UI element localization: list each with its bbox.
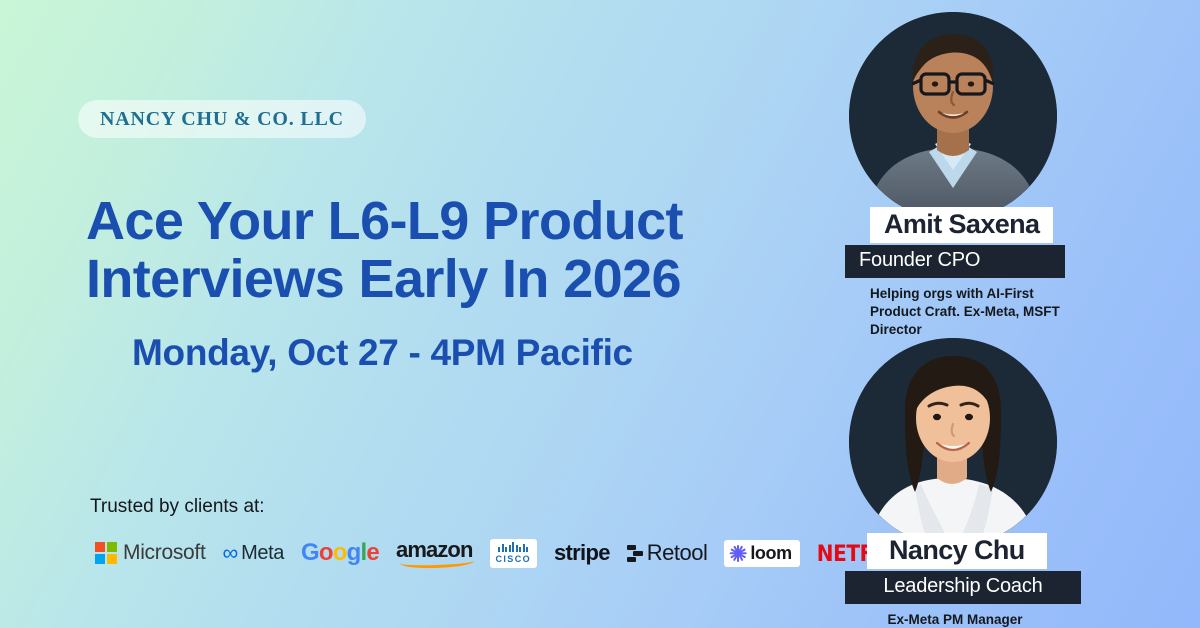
speaker-name-nancy: Nancy Chu: [889, 535, 1025, 565]
speaker-role-nancy: Leadership Coach: [883, 575, 1042, 597]
speaker-name-plate-amit: Amit Saxena: [870, 207, 1053, 243]
avatar-nancy-image: [849, 338, 1057, 546]
logo-retool: Retool: [627, 536, 708, 570]
logo-meta: ∞ Meta: [222, 536, 284, 570]
speaker-role-plate-amit: Founder CPO: [845, 245, 1065, 278]
speaker-name-plate-nancy: Nancy Chu: [867, 533, 1047, 569]
promo-banner: NANCY CHU & CO. LLC Ace Your L6-L9 Produ…: [0, 0, 1200, 628]
speaker-role-plate-nancy: Leadership Coach: [845, 571, 1081, 604]
cisco-logo-icon: [498, 542, 528, 552]
speaker-role-amit: Founder CPO: [859, 249, 980, 271]
google-wordmark: Google: [301, 539, 379, 567]
speaker-bio-amit: Helping orgs with AI-First Product Craft…: [845, 285, 1070, 338]
logo-amazon: amazon: [396, 536, 473, 570]
microsoft-wordmark: Microsoft: [123, 541, 205, 565]
stripe-wordmark: stripe: [554, 540, 610, 566]
microsoft-logo-icon: [95, 542, 117, 564]
speaker-card-amit: Amit Saxena Founder CPO Helping orgs wit…: [845, 12, 1175, 338]
speaker-name-amit: Amit Saxena: [884, 209, 1039, 239]
logo-cisco: CISCO: [490, 536, 538, 570]
logo-google: Google: [301, 536, 379, 570]
bio-line: Product Craft. Ex-Meta, MSFT: [870, 303, 1070, 321]
bio-line: Director: [870, 321, 1070, 339]
meta-wordmark: Meta: [241, 542, 284, 565]
avatar-nancy: [849, 338, 1057, 546]
brand-name: NANCY CHU & CO. LLC: [100, 108, 344, 131]
headline-line-1: Ace Your L6-L9 Product: [86, 192, 806, 250]
bio-line: Helping orgs with AI-First: [870, 285, 1070, 303]
left-content-column: NANCY CHU & CO. LLC Ace Your L6-L9 Produ…: [0, 0, 830, 628]
retool-wordmark: Retool: [647, 540, 708, 566]
speaker-card-nancy: Nancy Chu Leadership Coach Ex-Meta PM Ma…: [845, 338, 1175, 628]
speaker-bio-nancy: Ex-Meta PM Manager Ex-Roku PM Director: [845, 611, 1065, 628]
meta-logo-icon: ∞: [222, 542, 238, 564]
brand-badge: NANCY CHU & CO. LLC: [78, 100, 366, 138]
bio-line: Ex-Meta PM Manager: [845, 611, 1065, 628]
logo-microsoft: Microsoft: [95, 536, 205, 570]
avatar-amit-image: [849, 12, 1057, 220]
loom-wordmark: loom: [750, 543, 791, 564]
headline-block: Ace Your L6-L9 Product Interviews Early …: [86, 192, 806, 309]
logo-stripe: stripe: [554, 536, 610, 570]
avatar-amit: [849, 12, 1057, 220]
cisco-wordmark: CISCO: [496, 554, 532, 564]
loom-logo-icon: [729, 545, 746, 562]
client-logo-strip: Microsoft ∞ Meta Google amazon: [95, 534, 907, 572]
amazon-smile-icon: [400, 554, 474, 569]
event-datetime: Monday, Oct 27 - 4PM Pacific: [132, 332, 633, 374]
retool-logo-icon: [627, 545, 643, 562]
headline-line-2: Interviews Early In 2026: [86, 250, 806, 308]
logo-loom: loom: [724, 536, 799, 570]
social-proof-label: Trusted by clients at:: [90, 496, 265, 518]
